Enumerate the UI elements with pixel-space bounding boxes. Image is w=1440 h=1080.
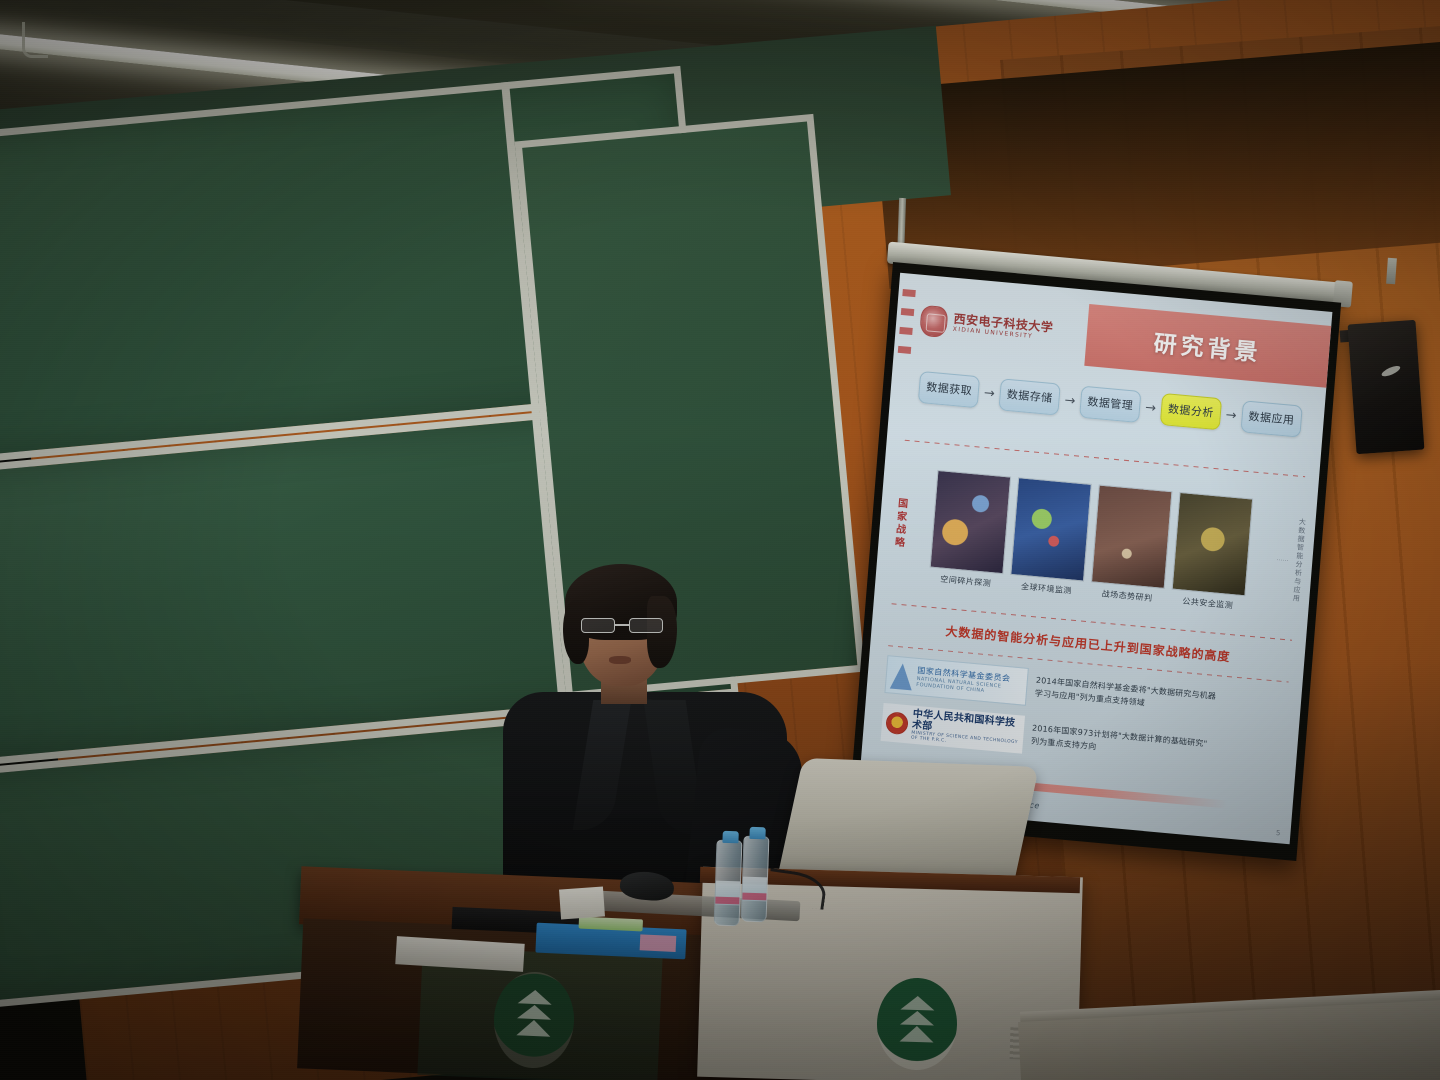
gallery-image-space-debris — [930, 470, 1012, 574]
screen-mount-knob — [1386, 258, 1397, 285]
gallery-caption: 全球环境监测 — [1021, 581, 1073, 597]
gallery-caption: 公共安全监测 — [1182, 596, 1234, 612]
policy-text: 2016年国家973计划将"大数据计算的基础研究" 列为重点支持方向 — [1030, 723, 1207, 764]
chalk-box-label — [640, 934, 677, 952]
nsfc-logo-icon: 国家自然科学基金委员会 NATIONAL NATURAL SCIENCE FOU… — [884, 655, 1028, 706]
university-emblem-right — [876, 977, 959, 1071]
chevron-icon — [517, 1004, 552, 1019]
gallery-item: 战场态势研判 — [1090, 485, 1173, 605]
gallery-ellipsis: …… — [1277, 555, 1290, 563]
chevron-icon — [518, 989, 553, 1004]
bottle-cap — [722, 831, 738, 844]
flow-arrow-icon: → — [1064, 394, 1076, 408]
bottle-cap — [749, 827, 765, 840]
water-bottle — [714, 840, 743, 927]
flow-arrow-icon: → — [983, 386, 995, 400]
slide-title: 研究背景 — [1153, 324, 1263, 368]
university-emblem-left — [492, 970, 576, 1069]
presentation-slide: 西安电子科技大学 XIDIAN UNIVERSITY 研究背景 数据获取 → 数… — [857, 273, 1332, 845]
pine-emblem-icon — [492, 970, 576, 1069]
gallery-side-label-right: 大数据智能分析与应用 — [1291, 517, 1305, 602]
eyeglass-bridge — [615, 624, 629, 626]
slide-header: 西安电子科技大学 XIDIAN UNIVERSITY 研究背景 — [894, 287, 1331, 388]
flow-step-management: 数据管理 — [1079, 386, 1141, 423]
gallery-caption: 空间碎片探测 — [940, 574, 992, 590]
eyeglass-lens-right — [629, 618, 663, 633]
slide-page-number: 5 — [1276, 829, 1281, 837]
flow-step-storage: 数据存储 — [999, 378, 1061, 415]
gallery-image-global-environment — [1010, 477, 1092, 581]
flow-arrow-icon: → — [1145, 401, 1157, 415]
policy-list: 国家自然科学基金委员会 NATIONAL NATURAL SCIENCE FOU… — [881, 655, 1290, 777]
chevron-icon — [900, 996, 934, 1011]
gallery-image-battlefield — [1091, 485, 1173, 589]
slide-university-block: 西安电子科技大学 XIDIAN UNIVERSITY — [894, 287, 1089, 366]
wall-speaker-icon — [1348, 320, 1425, 454]
gallery-item: 空间碎片探测 — [928, 470, 1011, 590]
application-gallery: 空间碎片探测 全球环境监测 战场态势研判 公共安全监测 — [906, 468, 1275, 614]
national-emblem-icon — [885, 711, 909, 735]
slide-title-banner: 研究背景 — [1084, 304, 1331, 388]
flow-step-analysis-highlighted: 数据分析 — [1160, 393, 1222, 430]
gallery-caption: 战场态势研判 — [1101, 588, 1153, 604]
pine-emblem-icon — [876, 977, 959, 1071]
application-gallery-row: 国家战略 空间碎片探测 全球环境监测 战场态势研判 — [888, 453, 1308, 630]
most-logo-icon: 中华人民共和国科学技术部 MINISTRY OF SCIENCE AND TEC… — [881, 703, 1025, 754]
presenter-mouth — [609, 656, 631, 664]
flow-step-application: 数据应用 — [1240, 400, 1302, 437]
lecture-hall-scene: 西安电子科技大学 XIDIAN UNIVERSITY 研究背景 数据获取 → 数… — [0, 0, 1440, 1080]
lectern-top — [777, 758, 1039, 888]
flow-arrow-icon: → — [1225, 408, 1237, 422]
note-paper — [559, 887, 605, 920]
chevron-icon — [516, 1019, 551, 1036]
nsfc-triangle-icon — [890, 663, 914, 691]
water-bottle — [741, 836, 770, 923]
gallery-item: 全球环境监测 — [1009, 477, 1092, 597]
gallery-image-public-safety — [1172, 492, 1254, 596]
bottle-label — [742, 877, 767, 902]
gallery-side-label: 国家战略 — [892, 497, 907, 550]
flow-step-acquisition: 数据获取 — [918, 371, 980, 408]
policy-text: 2014年国家自然科学基金委将"大数据研究与机器 学习与应用"列为重点支持领域 — [1034, 675, 1216, 717]
eyeglasses-icon — [581, 618, 665, 634]
ceiling-hook — [22, 22, 48, 58]
chevron-icon — [900, 1026, 934, 1043]
university-seal-icon — [919, 304, 948, 337]
gallery-item: 公共安全监测 — [1170, 492, 1253, 612]
bottle-label — [715, 881, 740, 906]
eyeglass-lens-left — [581, 618, 615, 633]
chevron-icon — [900, 1011, 934, 1026]
